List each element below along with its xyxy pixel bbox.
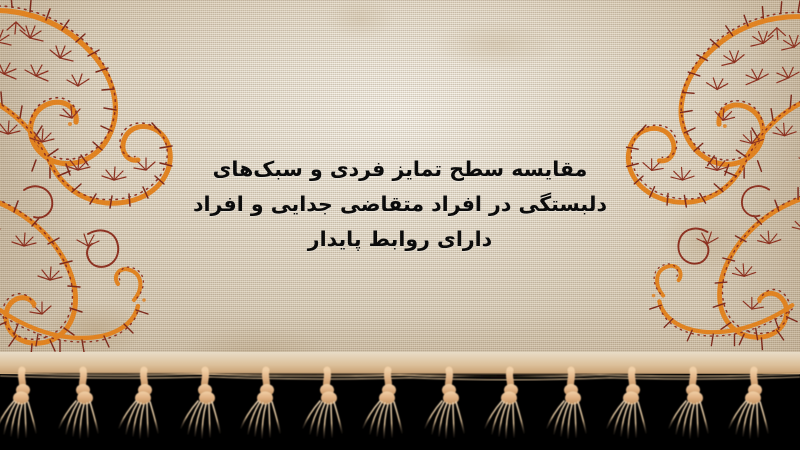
title-line-2: دلبستگی در افراد متقاضی جدایی و افراد [0, 187, 800, 222]
slide-title: مقایسه سطح تمایز فردی و سبک‌های دلبستگی … [0, 152, 800, 257]
tassel-fringe [0, 352, 800, 450]
title-line-1: مقایسه سطح تمایز فردی و سبک‌های [0, 152, 800, 187]
slide-canvas: مقایسه سطح تمایز فردی و سبک‌های دلبستگی … [0, 0, 800, 450]
title-line-3: دارای روابط پایدار [0, 222, 800, 257]
